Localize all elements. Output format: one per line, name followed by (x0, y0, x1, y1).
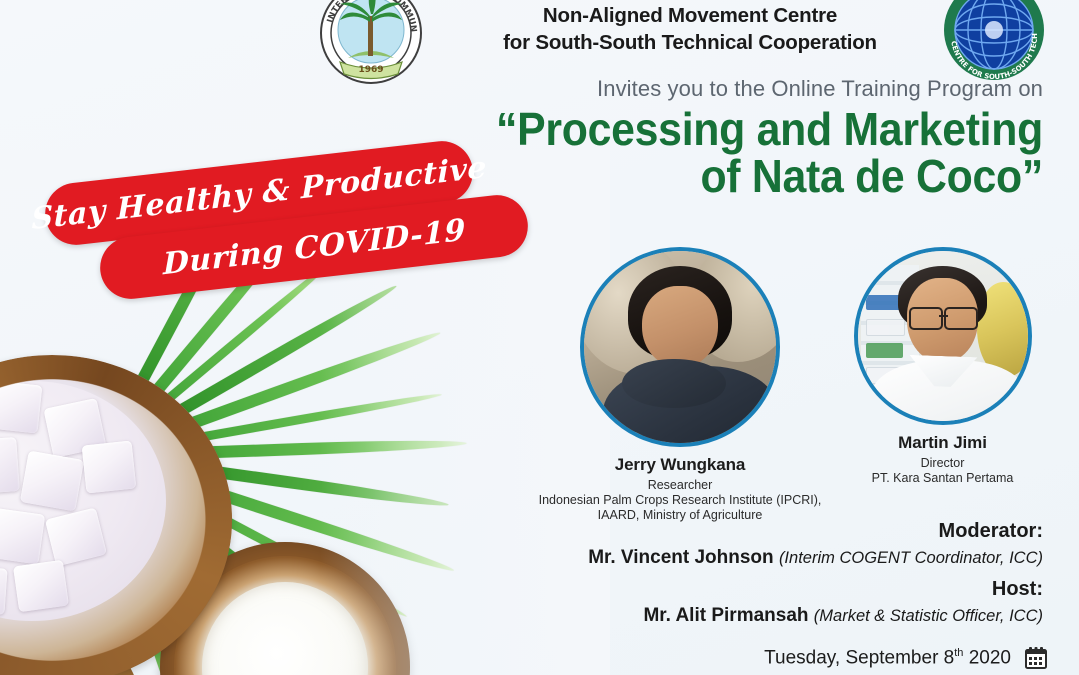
event-date-main: Tuesday, September 8 (764, 647, 954, 668)
organization-title: Non-Aligned Movement Centre for South-So… (455, 2, 925, 56)
event-title-line-1: “Processing and Marketing (496, 103, 1043, 155)
product-pack (866, 319, 905, 336)
lens-left (909, 307, 944, 330)
moderator-title: (Interim COGENT Coordinator, ICC) (779, 549, 1043, 567)
event-title-line-2: of Nata de Coco” (411, 153, 1043, 200)
poster-canvas: 1969 INTERNATIONAL COMMUNITY Non-Aligned… (0, 0, 1079, 675)
martin-jimi-photo (854, 247, 1032, 425)
moderator-label: Moderator: (483, 518, 1043, 544)
south-south-globe-logo: CENTRE FOR SOUTH-SOUTH TECHNICAL COOPERA… (942, 0, 1046, 52)
svg-text:1969: 1969 (358, 65, 383, 75)
invite-line: Invites you to the Online Training Progr… (597, 76, 1043, 102)
calendar-icon (1023, 645, 1049, 671)
speaker-org-line-1: Indonesian Palm Crops Research Institute… (530, 493, 830, 508)
eyeglasses-shape (909, 307, 979, 326)
event-date-year: 2020 (969, 647, 1011, 668)
speaker-name: Jerry Wungkana (530, 455, 830, 475)
lens-right (944, 307, 979, 330)
speaker-card-martin-jimi: Martin Jimi Director PT. Kara Santan Per… (805, 247, 1079, 486)
product-pack (866, 343, 903, 358)
speaker-role: Director (805, 456, 1079, 471)
speaker-role: Researcher (530, 478, 830, 493)
moderator-line: Mr. Vincent Johnson (Interim COGENT Coor… (483, 544, 1043, 572)
host-label: Host: (483, 576, 1043, 602)
moderator-name: Mr. Vincent Johnson (588, 547, 773, 568)
organization-line-2: for South-South Technical Cooperation (455, 29, 925, 56)
face-shape (642, 286, 719, 369)
nam-seal-logo: 1969 INTERNATIONAL COMMUNITY (318, 0, 424, 52)
speaker-card-jerry-wungkana: Jerry Wungkana Researcher Indonesian Pal… (530, 247, 830, 523)
speaker-name: Martin Jimi (805, 433, 1079, 453)
event-date-text: Tuesday, September 8th 2020 (764, 647, 1011, 669)
scarf-shape (622, 359, 726, 409)
jerry-wungkana-photo (580, 247, 780, 447)
event-date-row: Tuesday, September 8th 2020 (764, 645, 1049, 671)
portrait-image (584, 251, 776, 443)
speaker-org-line-1: PT. Kara Santan Pertama (805, 471, 1079, 486)
host-title: (Market & Statistic Officer, ICC) (814, 607, 1043, 625)
credits-block: Moderator: Mr. Vincent Johnson (Interim … (483, 518, 1043, 634)
poster-header: 1969 INTERNATIONAL COMMUNITY Non-Aligned… (0, 0, 1079, 60)
host-line: Mr. Alit Pirmansah (Market & Statistic O… (483, 602, 1043, 630)
host-name: Mr. Alit Pirmansah (643, 605, 808, 626)
organization-line-1: Non-Aligned Movement Centre (455, 2, 925, 29)
event-date-ordinal: th (954, 647, 963, 659)
event-title: “Processing and Marketing of Nata de Coc… (411, 106, 1043, 200)
portrait-image (858, 251, 1028, 421)
